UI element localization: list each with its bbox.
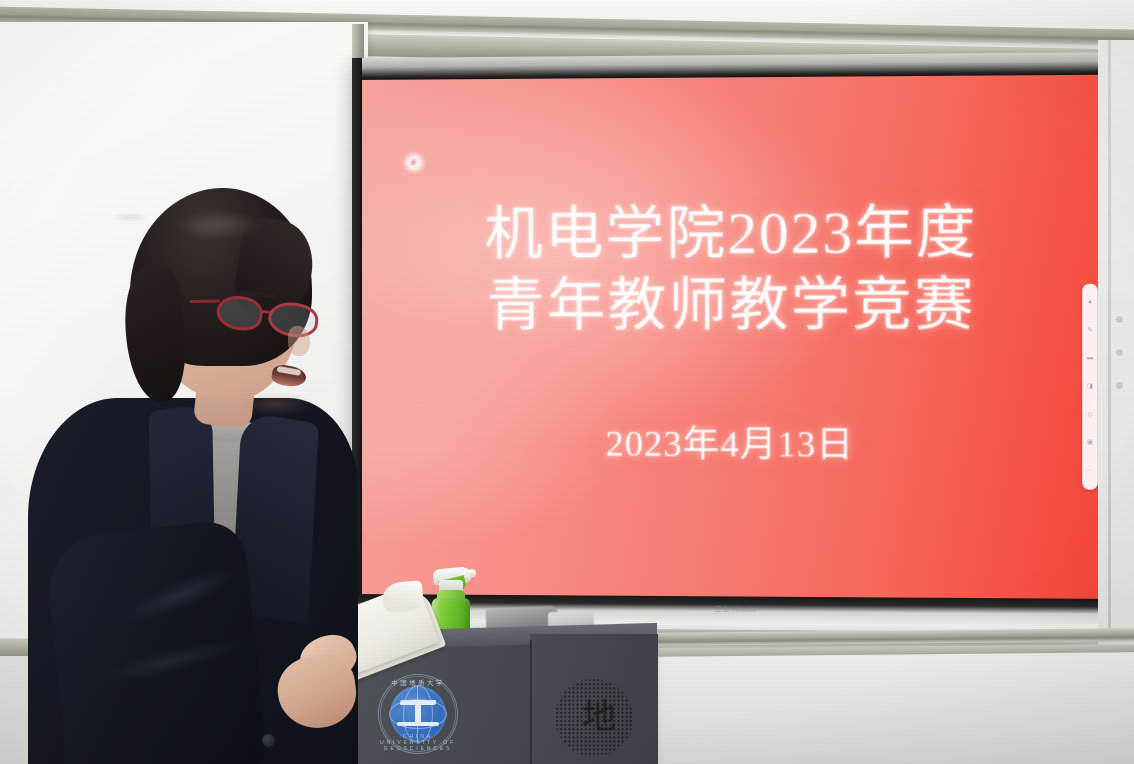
university-emblem: 中国地质大学 CHINA UNIVERSITY OF GEOSCIENCES bbox=[378, 674, 458, 754]
slide-title-line-2: 青年教师教学竞赛 bbox=[362, 269, 1104, 341]
presenter-cuff-button bbox=[262, 734, 275, 747]
podium-grille-logo: 地 bbox=[581, 698, 617, 738]
highlighter-icon[interactable]: ▬ bbox=[1087, 355, 1093, 361]
smart-display[interactable]: 机电学院2023年度 青年教师教学竞赛 2023年4月13日 ▲ ✎ ▬ ◨ ◇… bbox=[352, 52, 1127, 644]
slide-text-block: 机电学院2023年度 青年教师教学竞赛 2023年4月13日 bbox=[362, 197, 1104, 468]
emblem-glyph-icon bbox=[400, 700, 436, 730]
slide-title-line-1: 机电学院2023年度 bbox=[362, 197, 1104, 271]
slide-date: 2023年4月13日 bbox=[362, 414, 1104, 468]
emblem-glyph-bar-bottom bbox=[397, 722, 439, 726]
wall-fixture-dot bbox=[1116, 316, 1123, 323]
emblem-glyph-bar-top bbox=[399, 700, 436, 705]
cursor-icon[interactable]: ▲ bbox=[1087, 299, 1093, 305]
capture-icon[interactable]: ▣ bbox=[1087, 440, 1093, 446]
right-wall-fixtures bbox=[1112, 290, 1134, 410]
presenter-hair-highlight bbox=[176, 210, 262, 240]
glasses-lens-left bbox=[215, 293, 265, 332]
more-icon[interactable]: ⋯ bbox=[1087, 468, 1093, 474]
presenter-hair-side bbox=[121, 264, 188, 404]
screen-cursor-hotspot bbox=[402, 152, 426, 174]
pen-icon[interactable]: ✎ bbox=[1087, 327, 1092, 333]
presenter-nose bbox=[288, 326, 310, 356]
presenter-teeth bbox=[277, 366, 302, 376]
wall-fixture-dot bbox=[1116, 349, 1123, 356]
shape-icon[interactable]: ◇ bbox=[1088, 412, 1093, 418]
lecture-hall-scene: 机电学院2023年度 青年教师教学竞赛 2023年4月13日 ▲ ✎ ▬ ◨ ◇… bbox=[0, 0, 1134, 764]
wall-fixture-dot bbox=[1116, 382, 1123, 389]
annotation-toolbar[interactable]: ▲ ✎ ▬ ◨ ◇ ▣ ⋯ bbox=[1082, 284, 1098, 490]
eraser-icon[interactable]: ◨ bbox=[1087, 384, 1093, 390]
emblem-en-text: CHINA UNIVERSITY OF GEOSCIENCES bbox=[379, 734, 457, 752]
display-brand-mark: 日立 Hitachi bbox=[714, 604, 756, 614]
presenter-chin-shadow bbox=[238, 392, 314, 416]
cursor-dot-icon bbox=[411, 159, 415, 165]
podium-seam bbox=[530, 640, 532, 764]
glasses-temple bbox=[190, 300, 220, 304]
right-wall-seam bbox=[1108, 40, 1111, 640]
presenter-mouth bbox=[271, 363, 308, 389]
emblem-glyph-stem bbox=[415, 703, 421, 725]
presentation-screen[interactable]: 机电学院2023年度 青年教师教学竞赛 2023年4月13日 ▲ ✎ ▬ ◨ ◇… bbox=[362, 75, 1104, 599]
